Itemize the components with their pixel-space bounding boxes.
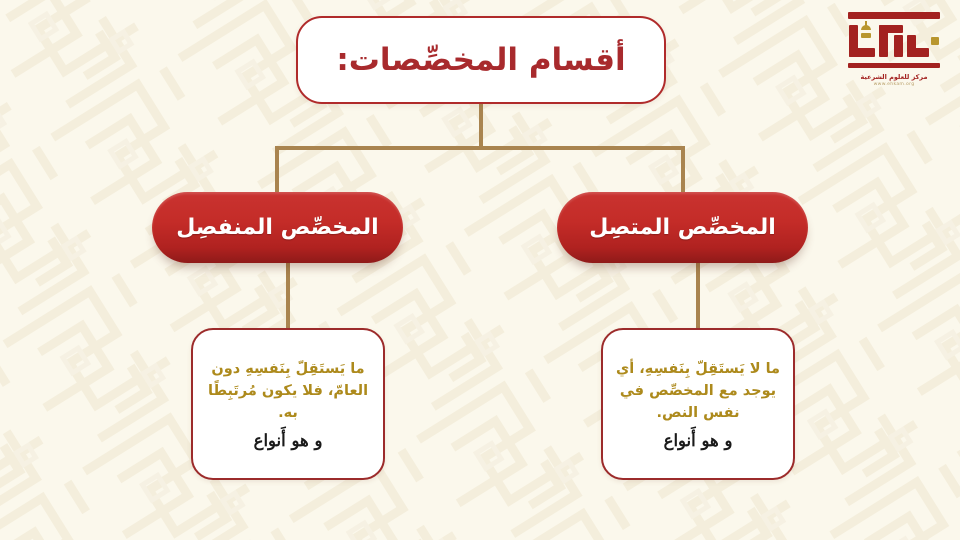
node-munfasil[interactable]: المخصِّص المنفصِل (152, 192, 403, 263)
logo-top-bar (848, 12, 940, 19)
diagram-canvas: مركز للعلوم الشرعية www.ehkam.org أقسام … (0, 0, 960, 540)
brand-logo: مركز للعلوم الشرعية www.ehkam.org (842, 12, 946, 87)
diagram-title-box: أقسام المخصِّصات: (296, 16, 666, 104)
leaf-muttasil-footer: و هو أَنواع (664, 431, 733, 450)
node-munfasil-label: المخصِّص المنفصِل (176, 215, 378, 240)
leaf-muttasil-description: ما لا يَستَقِلّ بِنَفسِهِ، أي يوجد مع ال… (613, 358, 783, 424)
node-muttasil[interactable]: المخصِّص المتصِل (557, 192, 808, 263)
leaf-munfasil: ما يَستَقِلّ بِنَفسِهِ دون العامّ، فلا ي… (191, 328, 385, 480)
leaf-muttasil: ما لا يَستَقِلّ بِنَفسِهِ، أي يوجد مع ال… (601, 328, 795, 480)
leaf-munfasil-description: ما يَستَقِلّ بِنَفسِهِ دون العامّ، فلا ي… (203, 358, 373, 424)
leaf-munfasil-footer: و هو أَنواع (254, 431, 323, 450)
logo-url: www.ehkam.org (842, 82, 946, 87)
page-title: أقسام المخصِّصات: (336, 42, 625, 78)
logo-bottom-bar (848, 63, 940, 68)
mosque-dome-icon (847, 21, 941, 61)
logo-wordmark (847, 21, 941, 61)
node-muttasil-label: المخصِّص المتصِل (589, 215, 776, 240)
logo-subtitle: مركز للعلوم الشرعية (842, 73, 946, 81)
